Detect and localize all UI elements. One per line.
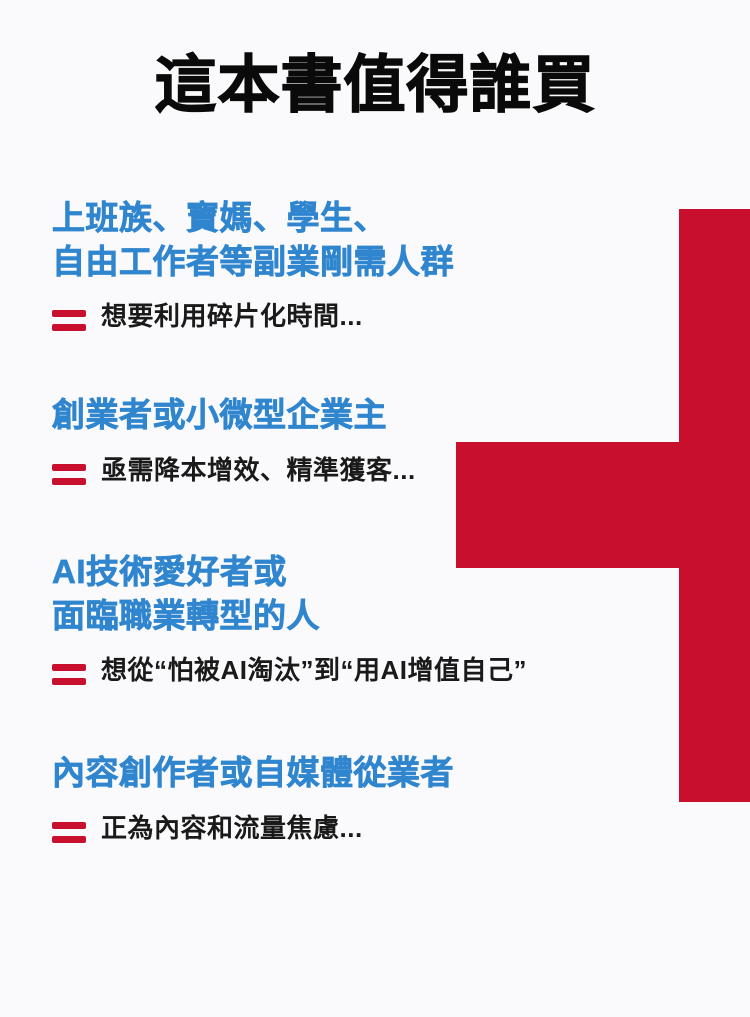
audience-section: 內容創作者或自媒體從業者 正為內容和流量焦慮...: [52, 751, 712, 846]
bullet-text: 想從“怕被AI淘汰”到“用AI增值自己”: [101, 653, 527, 689]
section-heading: 上班族、寶媽、學生、 自由工作者等副業剛需人群: [52, 196, 712, 283]
equals-icon: [52, 822, 86, 843]
bullet-text: 亟需降本增效、精準獲客...: [101, 453, 416, 489]
section-heading: 創業者或小微型企業主: [52, 393, 712, 437]
bullet-row: 亟需降本增效、精準獲客...: [52, 453, 712, 489]
poster-root: 這本書值得誰買 上班族、寶媽、學生、 自由工作者等副業剛需人群 想要利用碎片化時…: [0, 0, 750, 1017]
page-title: 這本書值得誰買: [0, 51, 750, 120]
equals-icon: [52, 664, 86, 685]
bullet-text: 正為內容和流量焦慮...: [101, 811, 363, 847]
section-heading: AI技術愛好者或 面臨職業轉型的人: [52, 550, 712, 637]
bullet-text: 想要利用碎片化時間...: [101, 299, 363, 335]
section-heading: 內容創作者或自媒體從業者: [52, 751, 712, 795]
audience-section: 上班族、寶媽、學生、 自由工作者等副業剛需人群 想要利用碎片化時間...: [52, 196, 712, 335]
bullet-row: 想要利用碎片化時間...: [52, 299, 712, 335]
bullet-row: 正為內容和流量焦慮...: [52, 811, 712, 847]
equals-icon: [52, 310, 86, 331]
equals-icon: [52, 464, 86, 485]
audience-section-list: 上班族、寶媽、學生、 自由工作者等副業剛需人群 想要利用碎片化時間... 創業者…: [52, 196, 712, 847]
audience-section: AI技術愛好者或 面臨職業轉型的人 想從“怕被AI淘汰”到“用AI增值自己”: [52, 550, 712, 689]
bullet-row: 想從“怕被AI淘汰”到“用AI增值自己”: [52, 653, 712, 689]
audience-section: 創業者或小微型企業主 亟需降本增效、精準獲客...: [52, 393, 712, 488]
